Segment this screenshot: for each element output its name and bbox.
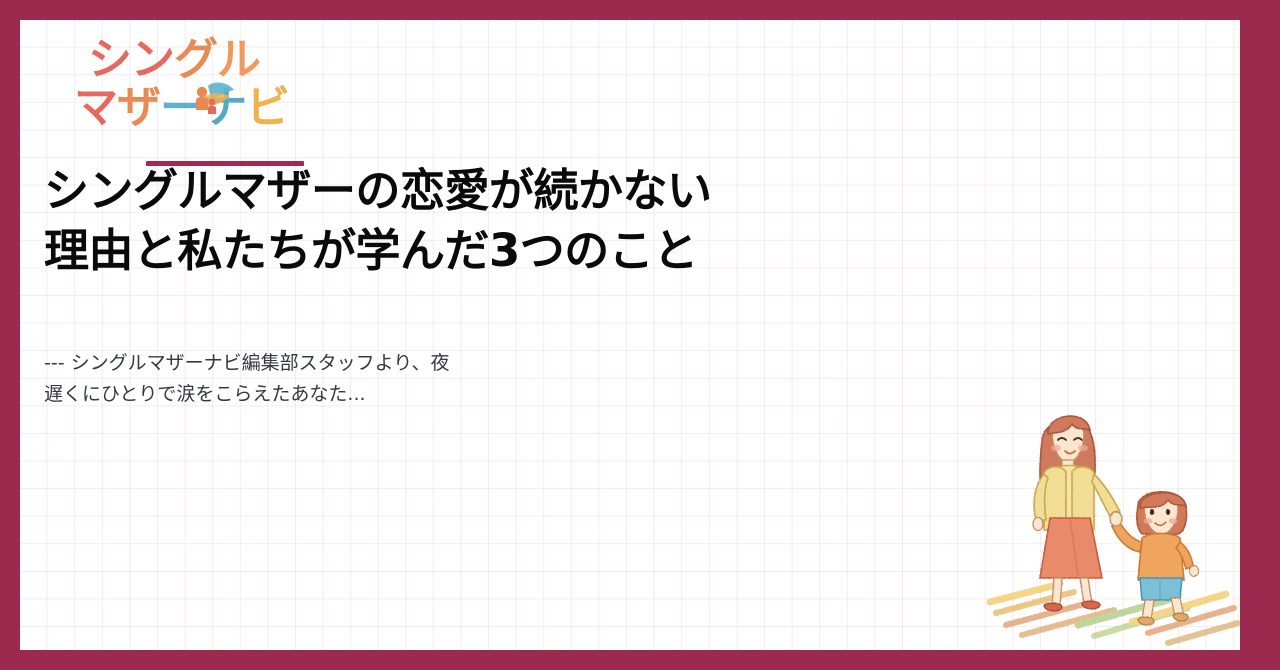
logo-char: ル — [217, 34, 260, 85]
logo-char: シ — [88, 34, 131, 85]
headline-line-2: 理由と私たちが学んだ3つのこと — [44, 221, 944, 281]
subcopy-line-2: 遅くにひとりで涙をこらえたあなた... — [44, 379, 684, 410]
logo-char: ン — [131, 34, 174, 85]
graph-paper-sheet: シングル マザーナビ シングルマザーの恋愛が続かない — [20, 20, 1240, 650]
mother-figure — [1033, 416, 1122, 611]
subtitle-attribution: --- シングルマザーナビ編集部スタッフより、夜 遅くにひとりで涙をこらえたあな… — [44, 348, 684, 410]
mother-and-child-illustration-svg — [982, 394, 1240, 650]
mother-and-child-illustration — [982, 394, 1240, 650]
logo-char: ビ — [246, 82, 289, 133]
logo-char: グ — [174, 34, 217, 85]
logo-line-2: マザーナビ — [74, 86, 289, 130]
ground-strokes — [990, 584, 1238, 643]
subcopy-line-1: --- シングルマザーナビ編集部スタッフより、夜 — [44, 348, 684, 379]
logo-line-1: シングル — [88, 38, 260, 82]
logo-wordmark: シングル マザーナビ — [74, 34, 284, 146]
joined-hands — [1110, 512, 1122, 526]
site-logo[interactable]: シングル マザーナビ — [74, 34, 314, 146]
headline-line-1: シングルマザーの恋愛が続かない — [44, 161, 944, 221]
poster-frame: シングル マザーナビ シングルマザーの恋愛が続かない — [0, 0, 1280, 670]
logo-char: ザ — [117, 82, 160, 133]
logo-char: ナ — [203, 82, 246, 133]
page-title: シングルマザーの恋愛が続かない 理由と私たちが学んだ3つのこと — [44, 161, 944, 282]
logo-char: マ — [74, 82, 117, 133]
logo-char: ー — [160, 82, 203, 133]
